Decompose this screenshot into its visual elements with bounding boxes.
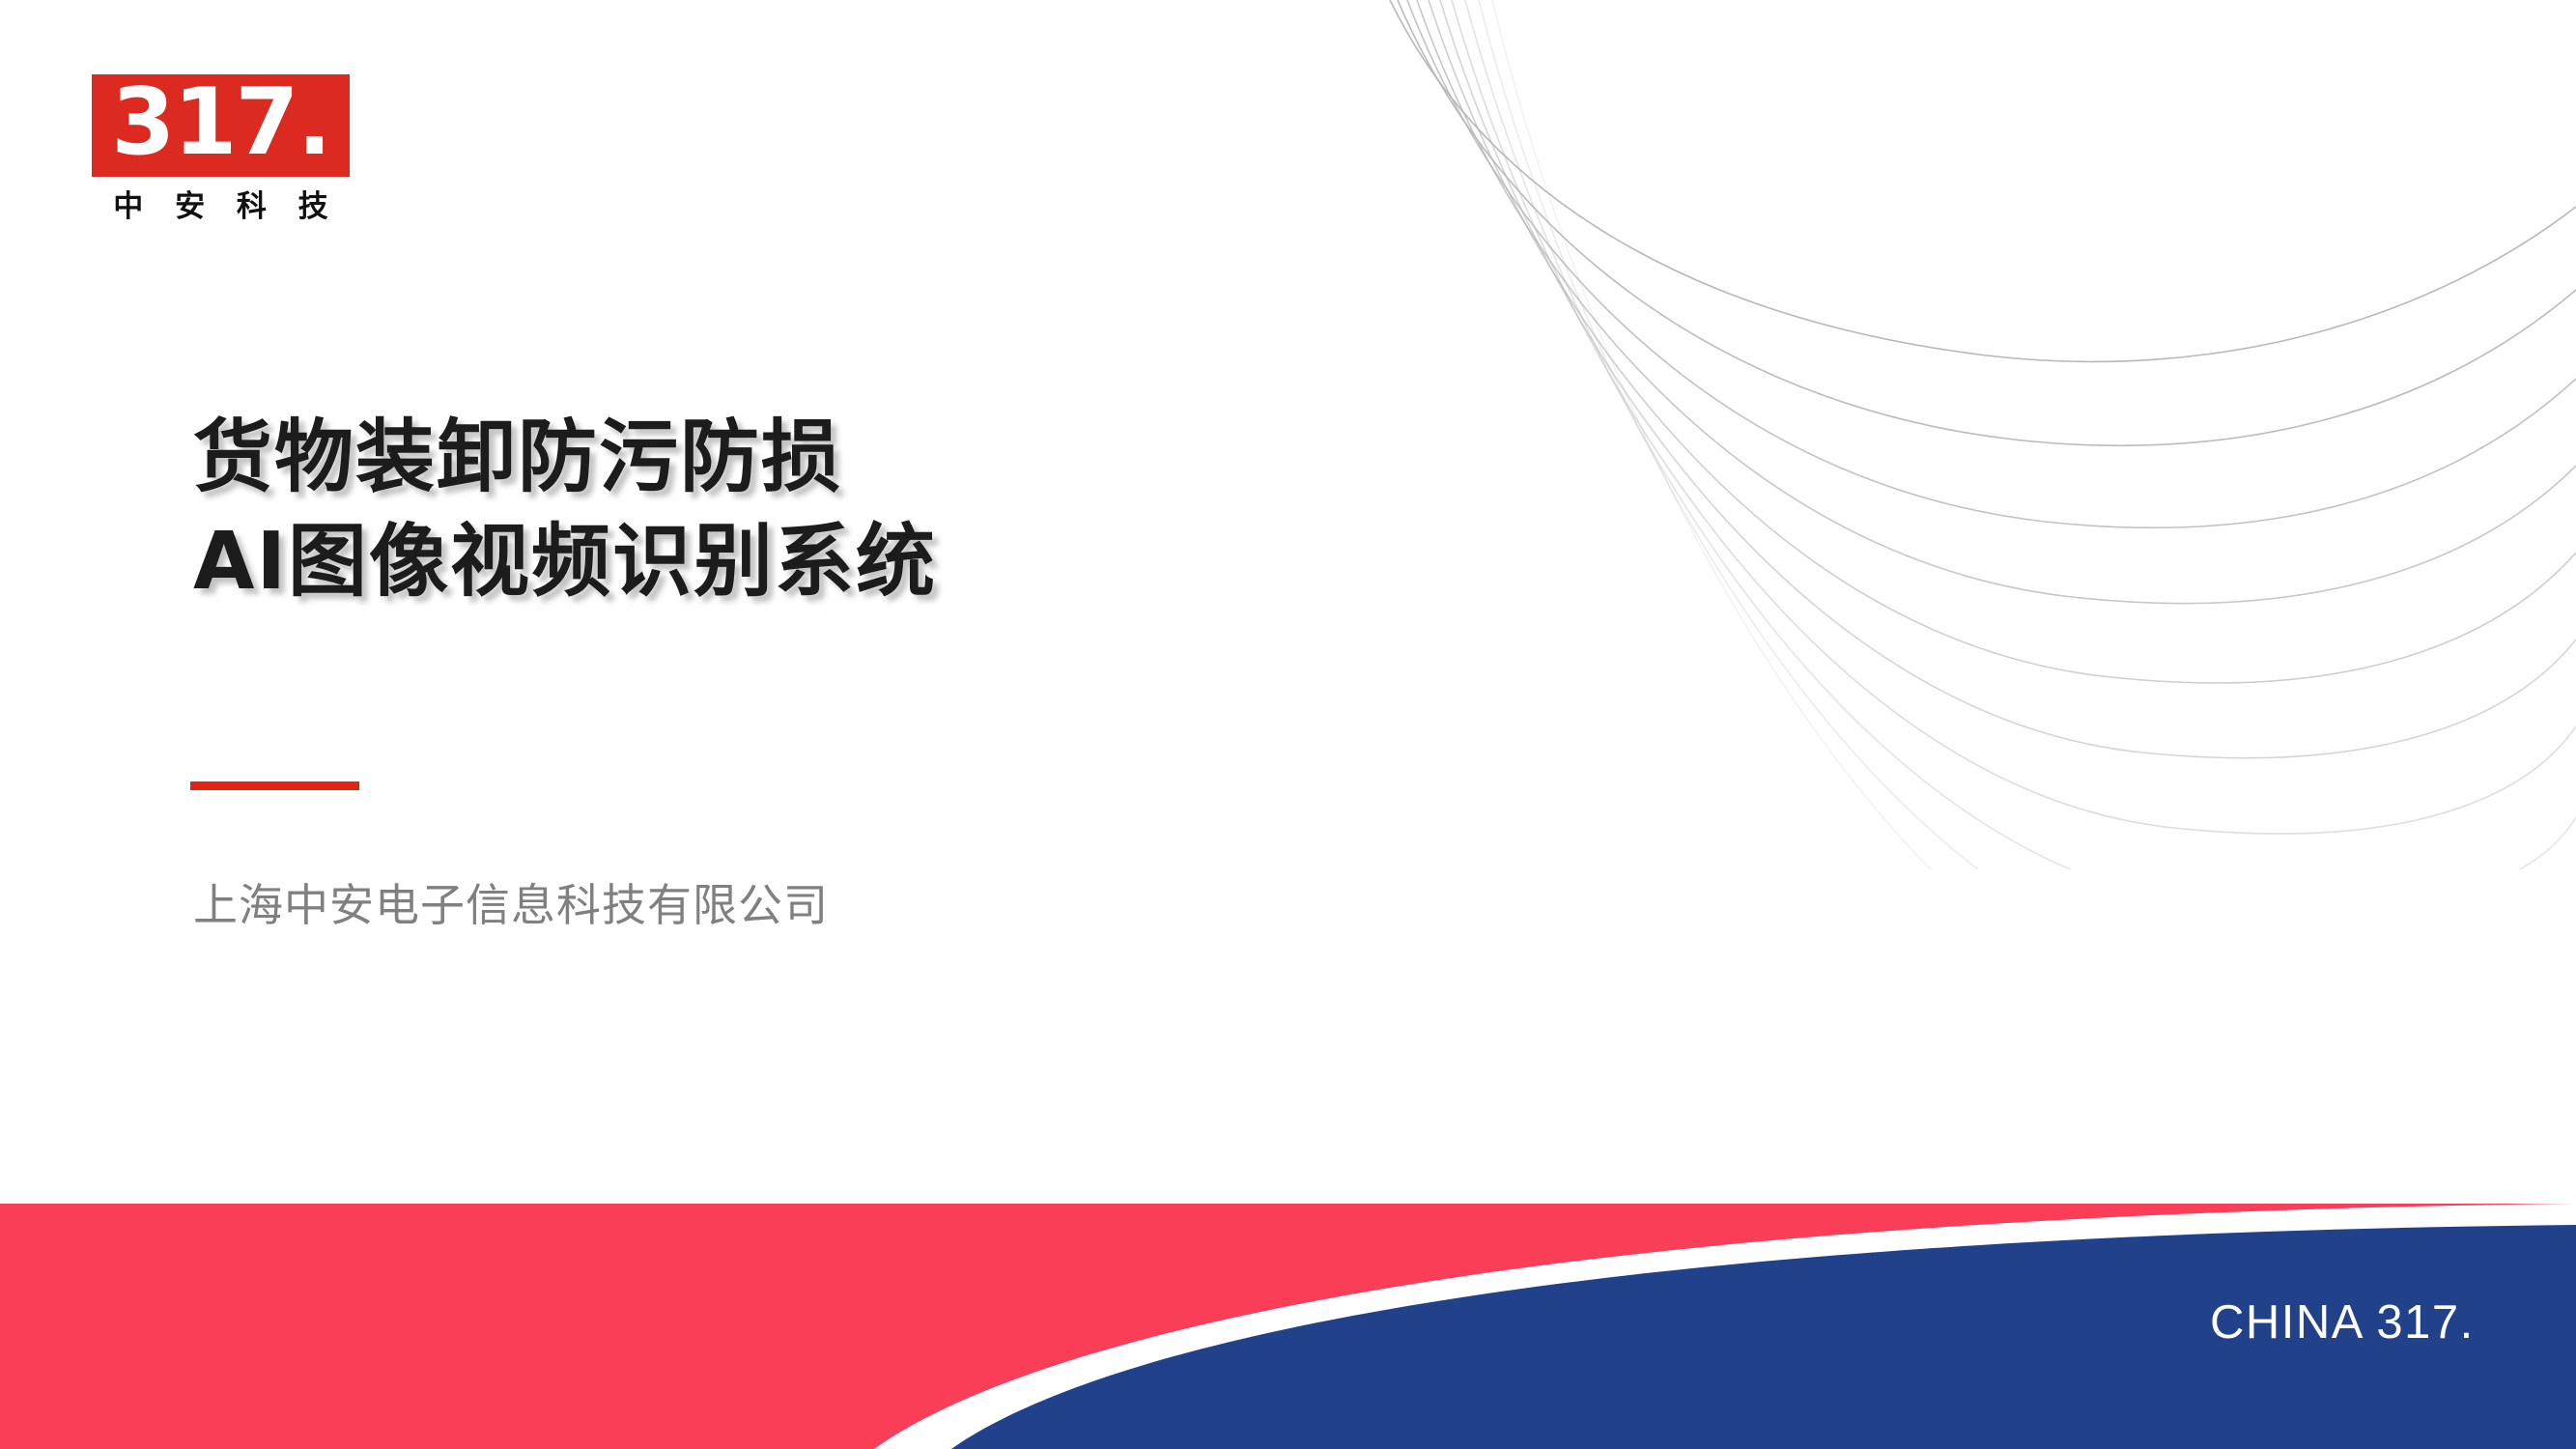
decorative-swoosh-lines (1369, 0, 2576, 869)
title-line-2: AI图像视频识别系统 (193, 510, 1352, 614)
company-logo: 317. 中 安 科 技 (92, 74, 382, 222)
slide-title: 货物装卸防污防损 AI图像视频识别系统 (193, 406, 1352, 614)
presentation-slide: 317. 中 安 科 技 货物装卸防污防损 AI图像视频识别系统 上海中安电子信… (0, 0, 2576, 1449)
company-subtitle: 上海中安电子信息科技有限公司 (193, 877, 829, 935)
footer-brand-label: CHINA 317. (2210, 1299, 2475, 1347)
footer-banner (0, 1204, 2576, 1449)
logo-company-name-cn: 中 安 科 技 (92, 192, 350, 222)
logo-mark-317: 317. (92, 74, 350, 177)
logo-mark-label: 317. (111, 77, 329, 169)
title-line-1: 货物装卸防污防损 (193, 406, 1352, 510)
title-divider-rule (190, 781, 359, 790)
